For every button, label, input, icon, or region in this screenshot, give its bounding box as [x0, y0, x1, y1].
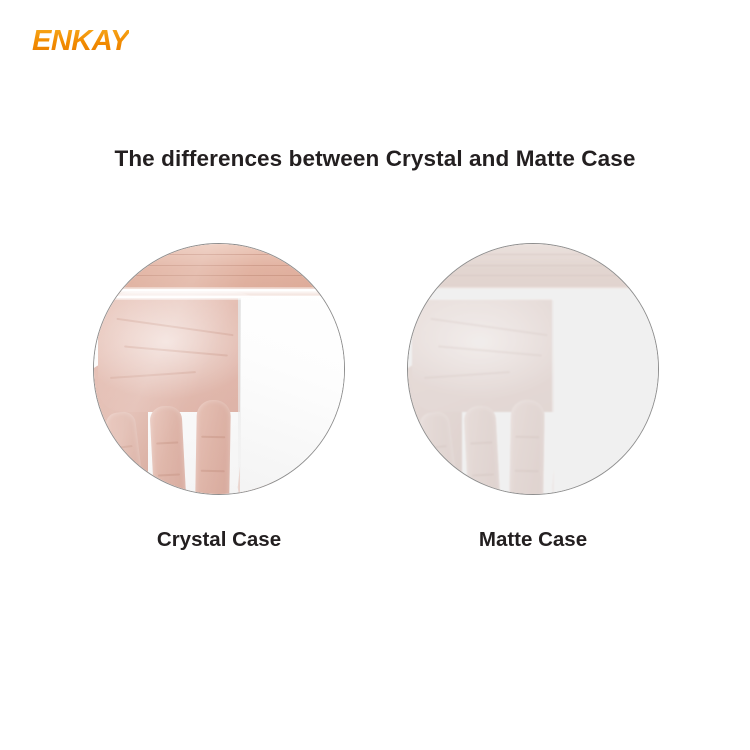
comparison-section: Crystal Case — [0, 243, 750, 499]
crystal-photo-content — [93, 243, 345, 495]
page-title: The differences between Crystal and Matt… — [0, 146, 750, 172]
case-body-edge — [238, 298, 241, 495]
matte-case-photo — [407, 243, 659, 495]
finger-middle — [509, 400, 545, 495]
caption-crystal-case: Crystal Case — [93, 528, 345, 552]
case-body-edge — [552, 298, 555, 495]
matte-photo-content — [407, 243, 659, 495]
finger-ring — [463, 405, 500, 495]
finger-middle — [195, 400, 231, 495]
crystal-case-photo — [93, 243, 345, 495]
enkay-brand-logo: ENKAY — [32, 27, 129, 56]
comparison-item-matte: Matte Case — [407, 243, 659, 499]
case-body-region — [240, 298, 345, 495]
comparison-item-crystal: Crystal Case — [93, 243, 345, 499]
case-body-region — [554, 298, 659, 495]
product-comparison-image: ENKAY The differences between Crystal an… — [0, 0, 750, 750]
finger-ring — [149, 405, 186, 495]
caption-matte-case: Matte Case — [407, 528, 659, 552]
